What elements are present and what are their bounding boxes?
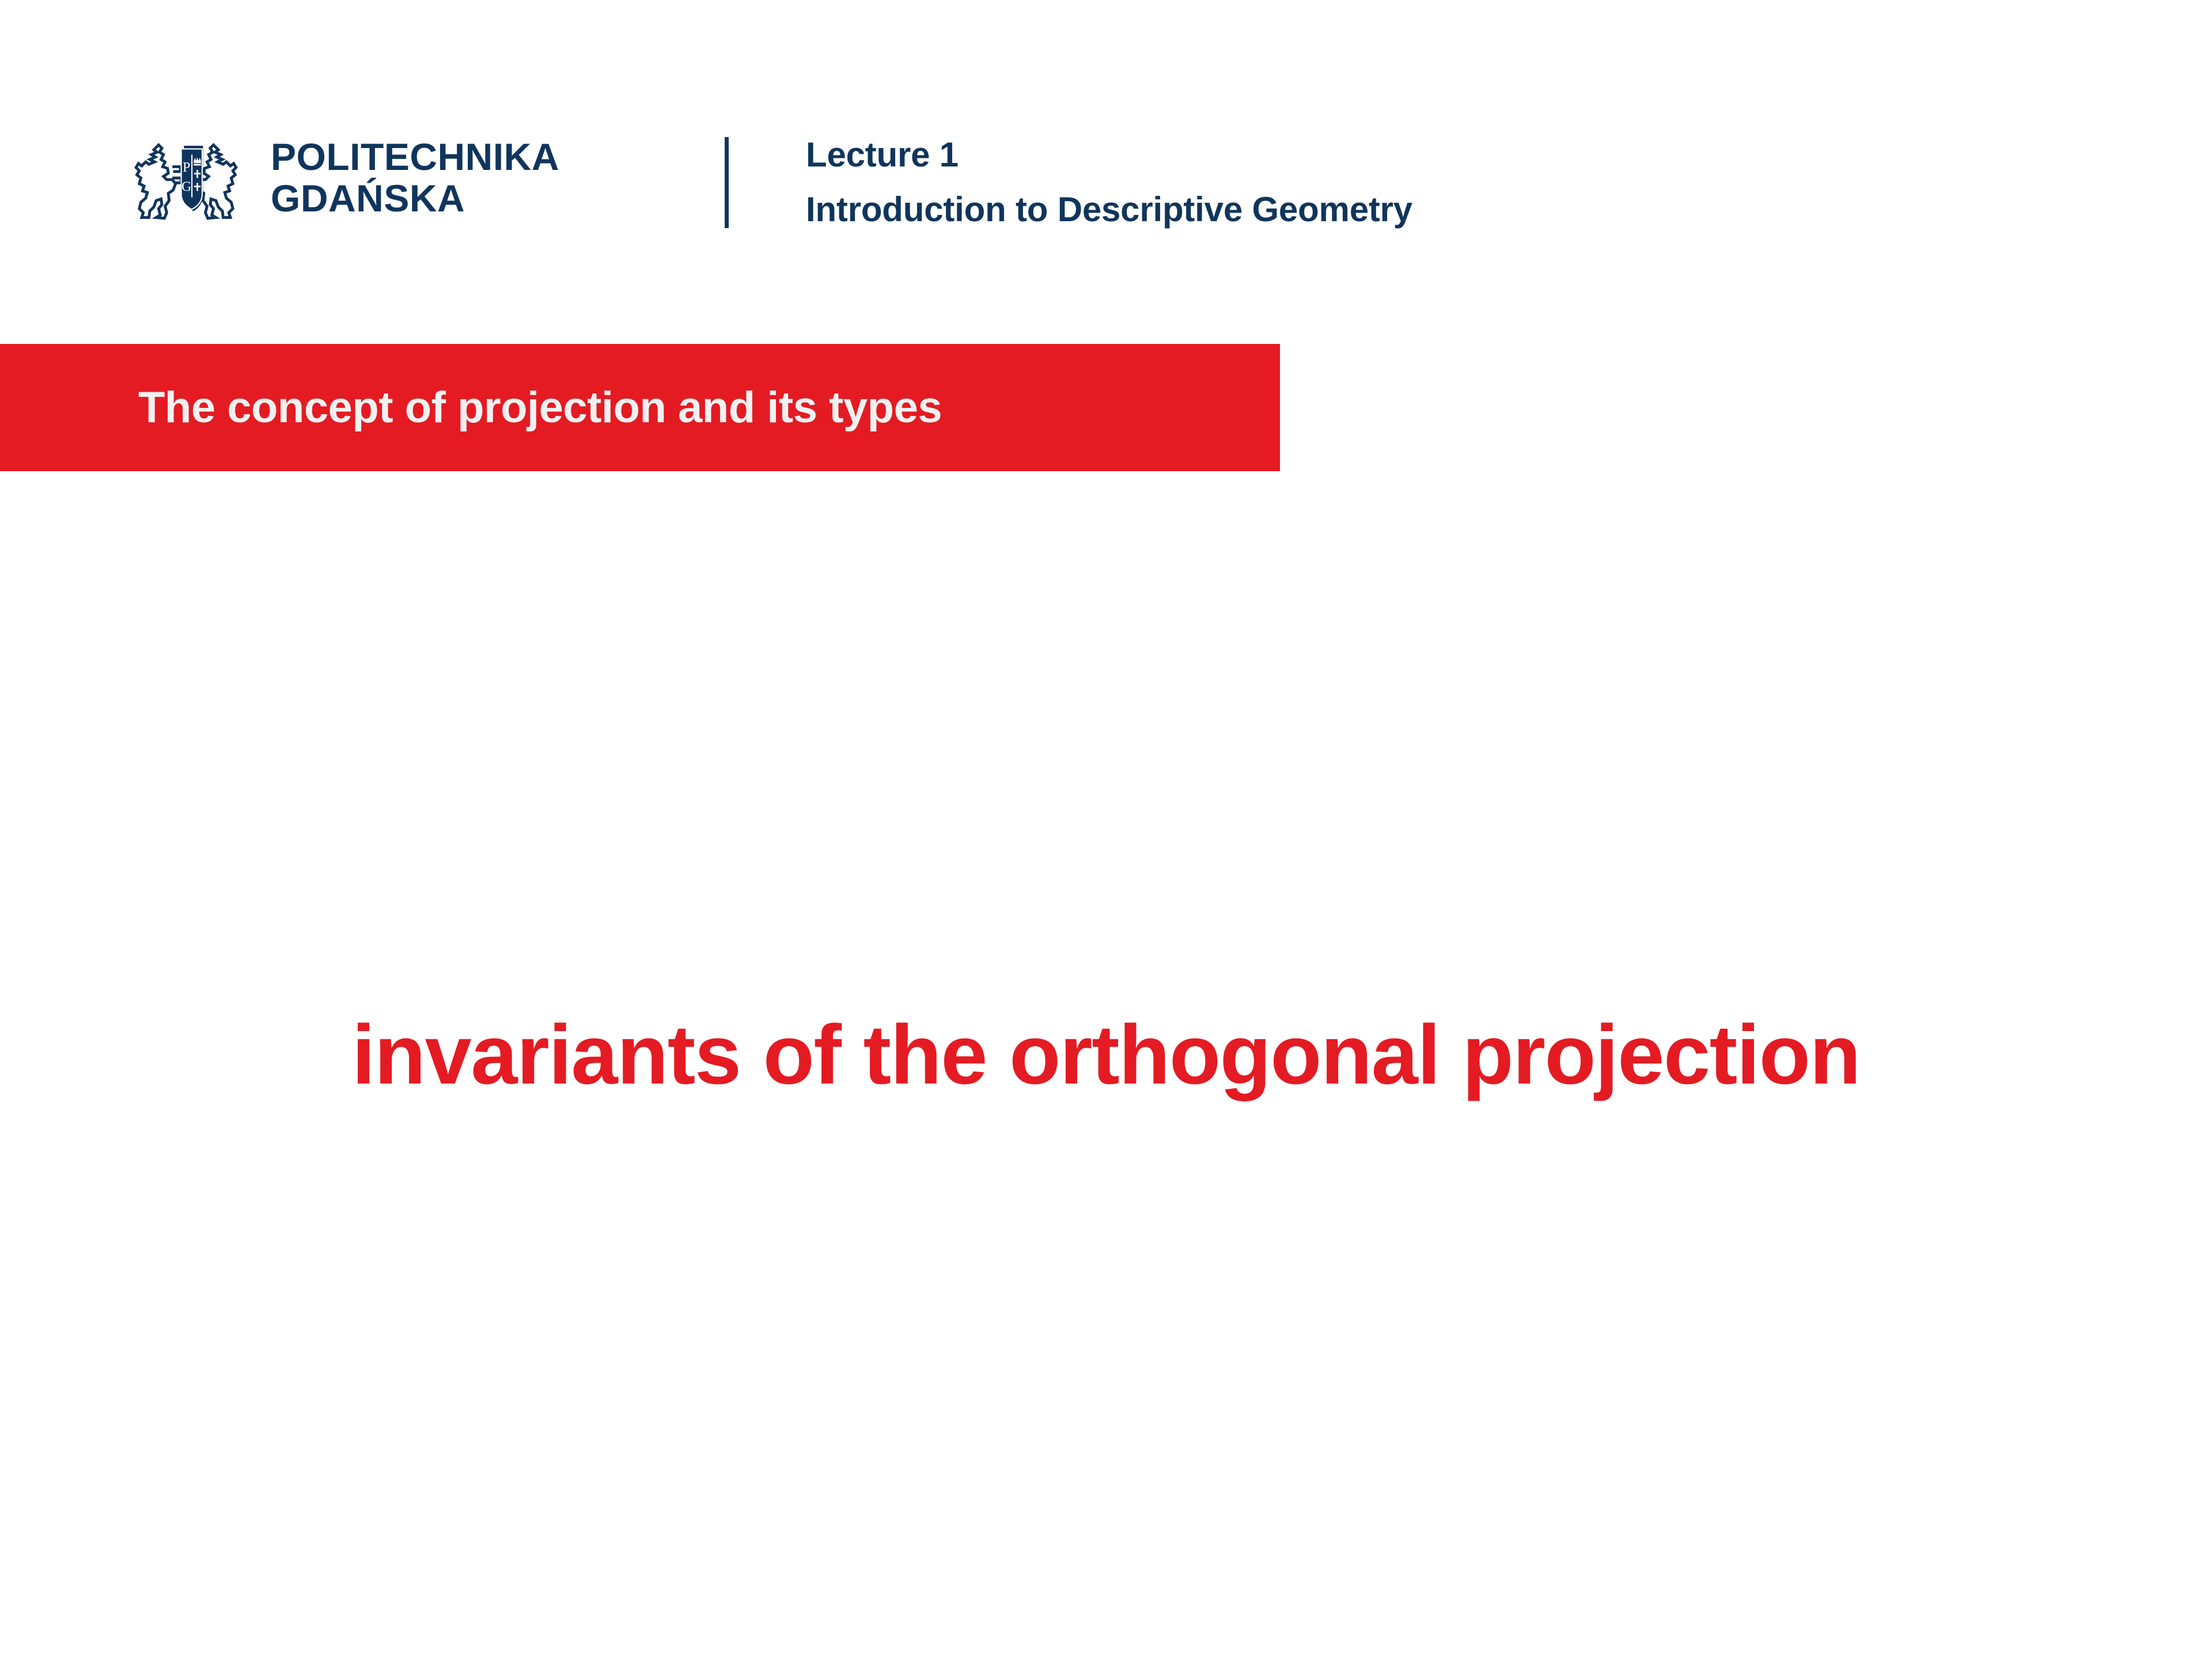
wordmark-line-1: POLITECHNIKA (271, 137, 559, 178)
slide-body: invariants of the orthogonal projection (0, 471, 2212, 1659)
slide-header: P G POLITECHNIKA GDAŃSKA Lecture 1 Intro… (0, 0, 2212, 344)
section-banner-label: The concept of projection and its types (138, 386, 942, 430)
lecture-number: Lecture 1 (806, 128, 1412, 183)
brand-lockup: P G POLITECHNIKA GDAŃSKA (134, 130, 559, 226)
header-vertical-divider (725, 137, 729, 228)
lecture-subject: Introduction to Descriptive Geometry (806, 183, 1412, 237)
main-statement: invariants of the orthogonal projection (0, 1013, 2212, 1097)
politechnika-gdanska-crest-icon: P G (134, 130, 238, 226)
crown-icon (194, 157, 201, 165)
section-banner: The concept of projection and its types (0, 344, 1280, 471)
pg-wordmark: POLITECHNIKA GDAŃSKA (271, 137, 559, 219)
wordmark-line-2: GDAŃSKA (271, 178, 559, 219)
shield-letter-g: G (181, 179, 191, 194)
shield-letter-p: P (183, 160, 190, 175)
lecture-title-block: Lecture 1 Introduction to Descriptive Ge… (806, 128, 1412, 237)
